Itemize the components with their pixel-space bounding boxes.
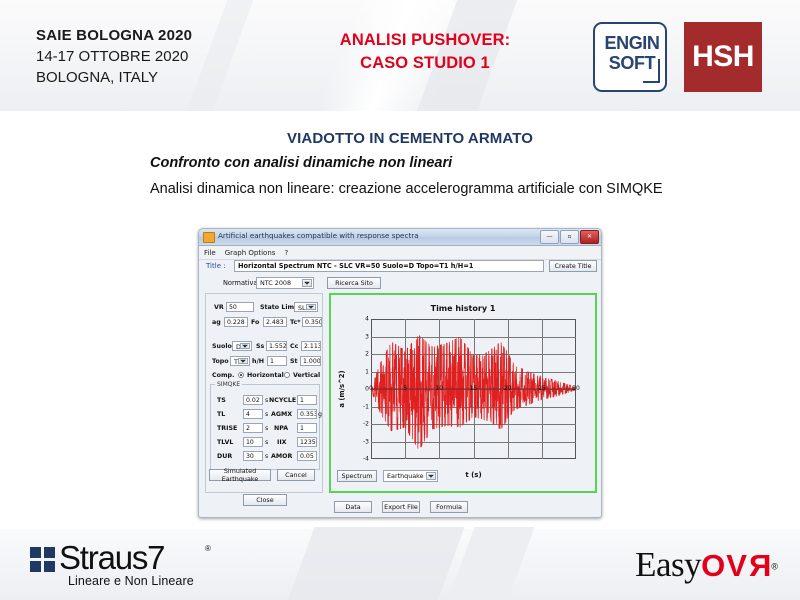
event-location: BOLOGNA, ITALY (36, 67, 192, 88)
hsh-logo: HSH (684, 22, 762, 92)
trise-label: TRISE (217, 425, 237, 432)
normativa-select[interactable]: NTC 2008 (256, 277, 314, 289)
title-input[interactable]: Horizontal Spectrum NTC - SLC VR=50 Suol… (234, 260, 544, 272)
trise-unit: s (265, 425, 268, 432)
earthquake-select-value: Earthquake 1 (387, 472, 430, 480)
cc-label: Cc (290, 343, 298, 350)
close-icon: ✕ (587, 234, 592, 240)
trise-field[interactable]: 2 (243, 423, 263, 433)
iix-label: IIX (277, 439, 287, 446)
bottom-button-bar: Data Export File Formula (199, 501, 602, 513)
topo-label: Topo (212, 358, 229, 365)
ncycle-field[interactable]: 1 (297, 395, 317, 405)
x-tick-label: 10 (435, 385, 443, 392)
close-window-button[interactable]: ✕ (580, 230, 599, 244)
x-tick-label: 25 (538, 385, 546, 392)
page-title: VIADOTTO IN CEMENTO ARMATO (150, 130, 670, 147)
y-axis-label: a (m/s^2) (338, 370, 346, 407)
chevron-down-icon (426, 472, 436, 480)
minimize-icon: — (547, 234, 553, 240)
y-tick-label: 1 (365, 368, 369, 375)
easyover-logo-over: OVR (701, 548, 771, 583)
ag-field[interactable]: 0.228 (224, 317, 248, 327)
vr-field[interactable]: 50 (226, 302, 254, 312)
y-tick-label: -4 (363, 456, 369, 463)
easyover-logo-ov: OV (701, 548, 748, 583)
ts-unit: s (265, 397, 268, 404)
x-tick-label: 30 (572, 385, 580, 392)
event-info: SAIE BOLOGNA 2020 14-17 OTTOBRE 2020 BOL… (36, 26, 192, 88)
tlvl-label: TLVL (217, 439, 233, 446)
y-tick-label: -3 (363, 438, 369, 445)
enginsoft-logo: ENGIN SOFT (593, 22, 667, 92)
window-title: Artificial earthquakes compatible with r… (218, 231, 419, 240)
earthquake-select[interactable]: Earthquake 1 (383, 470, 438, 482)
simqke-group: SIMQKE TS 0.02 s NCYCLE 1 TL 4 s AGMX 0.… (210, 384, 320, 470)
menu-item-help[interactable]: ? (284, 249, 288, 257)
suolo-label: Suolo (212, 343, 232, 350)
straus7-logo-mark (30, 547, 56, 573)
agmx-unit: g (318, 411, 322, 418)
subtitle-bold: Confronto con analisi dinamiche non line… (150, 155, 710, 171)
amor-field[interactable]: 0.05 (297, 451, 317, 461)
y-tick-label: -1 (363, 403, 369, 410)
tc-label: Tc* (290, 319, 300, 326)
application-icon (203, 232, 215, 243)
tl-label: TL (217, 411, 225, 418)
chevron-down-icon (306, 304, 316, 310)
window-titlebar[interactable]: Artificial earthquakes compatible with r… (199, 229, 601, 246)
export-file-button[interactable]: Export File (382, 501, 420, 513)
data-button[interactable]: Data (334, 501, 372, 513)
easyover-logo-reversed-r: R (748, 544, 771, 588)
agmx-field[interactable]: 0.353 (297, 409, 317, 419)
maximize-icon: ▫ (567, 234, 571, 240)
menu-item-file[interactable]: File (204, 249, 216, 257)
normativa-select-value: NTC 2008 (260, 279, 291, 287)
straus7-registered-mark: ® (205, 544, 211, 553)
ss-field[interactable]: 1.552 (266, 341, 287, 351)
ricerca-sito-button[interactable]: Ricerca Sito (327, 277, 381, 289)
chevron-down-icon (240, 343, 250, 349)
y-tick-label: 4 (365, 316, 369, 323)
comp-vertical-label: Vertical (293, 372, 320, 379)
simulated-earthquake-button[interactable]: Simulated Earthquake (209, 469, 271, 481)
y-tick-label: 3 (365, 333, 369, 340)
x-tick-label: 20 (504, 385, 512, 392)
application-window: Artificial earthquakes compatible with r… (198, 228, 602, 518)
spectrum-button[interactable]: Spectrum (337, 470, 377, 482)
comp-horizontal-label: Horizontal (247, 372, 284, 379)
simqke-group-label: SIMQKE (215, 381, 242, 388)
stato-limite-select[interactable]: SLC (294, 302, 318, 312)
hh-label: h/H (252, 358, 264, 365)
presentation-title-line1: ANALISI PUSHOVER: (280, 29, 570, 52)
agmx-label: AGMX (271, 411, 292, 418)
straus7-logo-text: Straus7 (59, 539, 164, 577)
presentation-title-line2: CASO STUDIO 1 (280, 52, 570, 75)
chart-panel: Time history 1 -4-3-2-101234 05101520253… (329, 293, 597, 493)
tc-field[interactable]: 0.350 (302, 317, 322, 327)
straus7-logo: Straus7 ® Lineare e Non Lineare (30, 541, 260, 589)
comp-label: Comp. (212, 372, 234, 379)
chevron-down-icon (302, 279, 312, 287)
normativa-row: Normativa NTC 2008 Ricerca Sito (199, 276, 602, 291)
tlvl-unit: s (265, 439, 268, 446)
slide-header: SAIE BOLOGNA 2020 14-17 OTTOBRE 2020 BOL… (0, 0, 800, 114)
enginsoft-logo-mark (643, 59, 660, 83)
vr-label: VR (214, 304, 224, 311)
y-tick-label: -2 (363, 421, 369, 428)
ncycle-label: NCYCLE (269, 397, 296, 404)
footer-diagonal-1 (278, 527, 472, 600)
st-label: St (290, 358, 298, 365)
x-tick-label: 15 (470, 385, 478, 392)
create-title-button[interactable]: Create Title (549, 260, 597, 272)
easyover-registered-mark: ® (771, 562, 778, 572)
formula-button[interactable]: Formula (430, 501, 468, 513)
y-tick-label: 2 (365, 351, 369, 358)
fo-label: Fo (251, 319, 259, 326)
x-tick-label: 5 (403, 385, 407, 392)
cancel-button[interactable]: Cancel (277, 469, 315, 481)
fo-field[interactable]: 2.483 (263, 317, 287, 327)
menu-item-graph-options[interactable]: Graph Options (225, 249, 276, 257)
minimize-button[interactable]: — (540, 230, 559, 244)
npa-field[interactable]: 1 (297, 423, 317, 433)
window-controls: — ▫ ✕ (540, 230, 599, 244)
easyover-logo: EasyOVR® (635, 543, 778, 587)
hh-field[interactable]: 1 (267, 356, 287, 366)
maximize-button[interactable]: ▫ (560, 230, 579, 244)
ts-field[interactable]: 0.02 (243, 395, 263, 405)
event-dates: 14-17 OTTOBRE 2020 (36, 46, 192, 67)
comp-vertical-radio[interactable] (284, 372, 290, 378)
title-row: Title : Horizontal Spectrum NTC - SLC VR… (199, 259, 602, 275)
ss-label: Ss (256, 343, 264, 350)
presentation-title: ANALISI PUSHOVER: CASO STUDIO 1 (280, 29, 570, 75)
dur-label: DUR (217, 453, 232, 460)
x-axis-label: t (s) (465, 471, 481, 479)
header-divider (0, 111, 800, 114)
parameters-panel: VR 50 Stato Limite SLC ag 0.228 Fo 2.483… (205, 293, 323, 493)
hsh-logo-text: HSH (684, 22, 762, 92)
normativa-label: Normativa (223, 279, 257, 287)
time-history-plot: -4-3-2-101234 051015202530 a (m/s^2) t (… (371, 319, 576, 459)
chevron-down-icon (238, 358, 248, 364)
topo-select[interactable]: T1 (230, 356, 250, 366)
title-field-label: Title : (206, 262, 226, 270)
chart-title: Time history 1 (331, 304, 595, 313)
tl-field[interactable]: 4 (243, 409, 263, 419)
tl-unit: s (265, 411, 268, 418)
x-tick-label: 0 (369, 385, 373, 392)
easyover-logo-easy: Easy (635, 545, 701, 584)
dur-unit: s (265, 453, 268, 460)
body-paragraph: Analisi dinamica non lineare: creazione … (150, 178, 670, 201)
slide-footer: Straus7 ® Lineare e Non Lineare EasyOVR® (0, 527, 800, 600)
st-field[interactable]: 1.000 (300, 356, 321, 366)
suolo-select[interactable]: D (232, 341, 252, 351)
tlvl-field[interactable]: 10 (243, 437, 263, 447)
dur-field[interactable]: 30 (243, 451, 263, 461)
ag-label: ag (212, 319, 221, 326)
npa-label: NPA (274, 425, 288, 432)
straus7-tagline: Lineare e Non Lineare (68, 574, 194, 588)
comp-horizontal-radio[interactable] (238, 372, 244, 378)
amor-label: AMOR (271, 453, 292, 460)
iix-field[interactable]: 1235 (297, 437, 317, 447)
ts-label: TS (217, 397, 226, 404)
cc-field[interactable]: 2.113 (301, 341, 321, 351)
event-name: SAIE BOLOGNA 2020 (36, 26, 192, 46)
enginsoft-logo-line1: ENGIN (604, 33, 659, 53)
slide: SAIE BOLOGNA 2020 14-17 OTTOBRE 2020 BOL… (0, 0, 800, 600)
menu-bar: File Graph Options ? (199, 246, 601, 260)
